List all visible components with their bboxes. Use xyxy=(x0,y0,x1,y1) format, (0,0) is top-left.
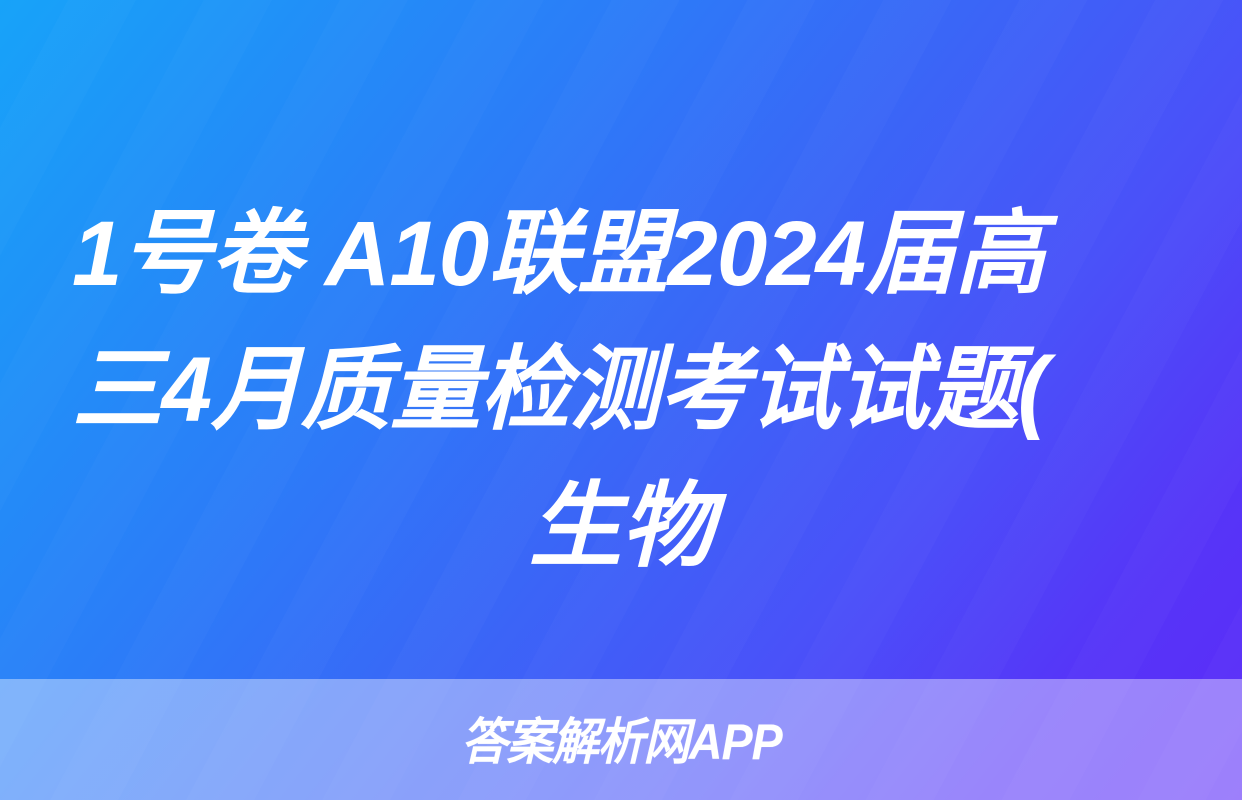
exam-title-block: 1号卷 A10联盟2024届高 三4月质量检测考试试题( 生物 xyxy=(72,186,1170,594)
exam-cover-card: 1号卷 A10联盟2024届高 三4月质量检测考试试题( 生物 答案解析网APP xyxy=(0,0,1242,800)
exam-title-line-3-subject: 生物 xyxy=(72,458,1170,594)
watermark-label: 答案解析网APP xyxy=(461,717,782,767)
watermark-band: 答案解析网APP xyxy=(0,679,1242,800)
exam-title-line-1: 1号卷 A10联盟2024届高 xyxy=(72,186,1154,322)
exam-title-line-2: 三4月质量检测考试试题( xyxy=(72,322,1154,458)
